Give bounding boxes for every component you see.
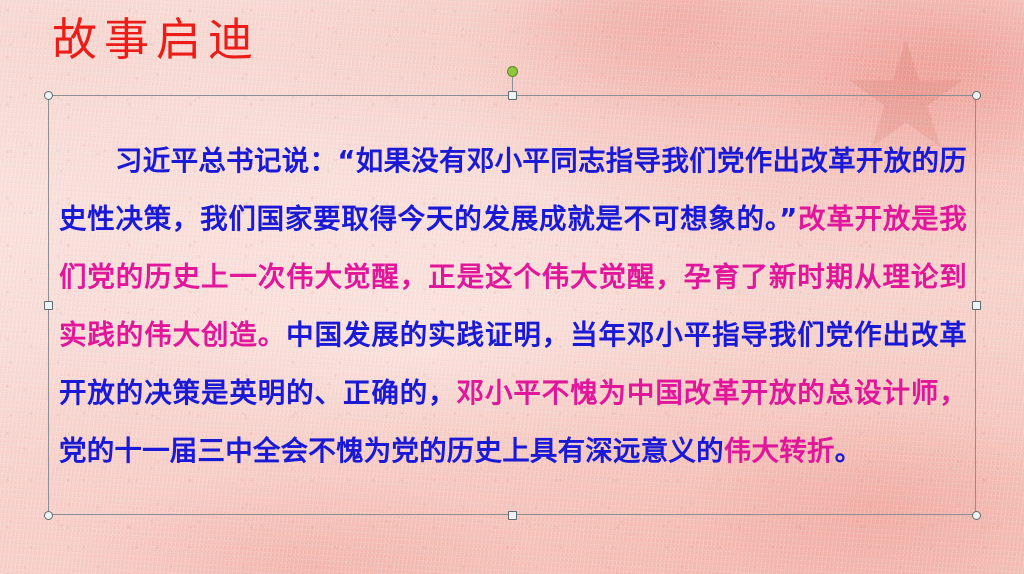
text-run-5: 党的十一届三中全会不愧为党的历史上具有深远意义的 [59, 435, 724, 467]
resize-handle-top-left[interactable] [44, 91, 53, 100]
text-run-4: 邓小平不愧为中国改革开放的总设计师， [457, 377, 967, 409]
quote-paragraph: 习近平总书记说：“如果没有邓小平同志指导我们党作出改革开放的历史性决策，我们国家… [59, 132, 967, 480]
rotation-handle[interactable] [507, 66, 518, 77]
resize-handle-middle-right[interactable] [972, 301, 981, 310]
resize-handle-bottom-left[interactable] [44, 511, 53, 520]
text-run-6: 伟大转折 [724, 435, 835, 467]
slide-canvas: 故事启迪 习近平总书记说：“如果没有邓小平同志指导我们党作出改革开放的历史性决策… [0, 0, 1024, 574]
resize-handle-top-right[interactable] [972, 91, 981, 100]
resize-handle-bottom-middle[interactable] [508, 511, 517, 520]
page-title: 故事启迪 [52, 14, 260, 66]
content-textbox[interactable]: 习近平总书记说：“如果没有邓小平同志指导我们党作出改革开放的历史性决策，我们国家… [48, 95, 976, 515]
resize-handle-bottom-right[interactable] [972, 511, 981, 520]
resize-handle-middle-left[interactable] [44, 301, 53, 310]
resize-handle-top-middle[interactable] [508, 91, 517, 100]
text-run-7: 。 [835, 435, 863, 467]
